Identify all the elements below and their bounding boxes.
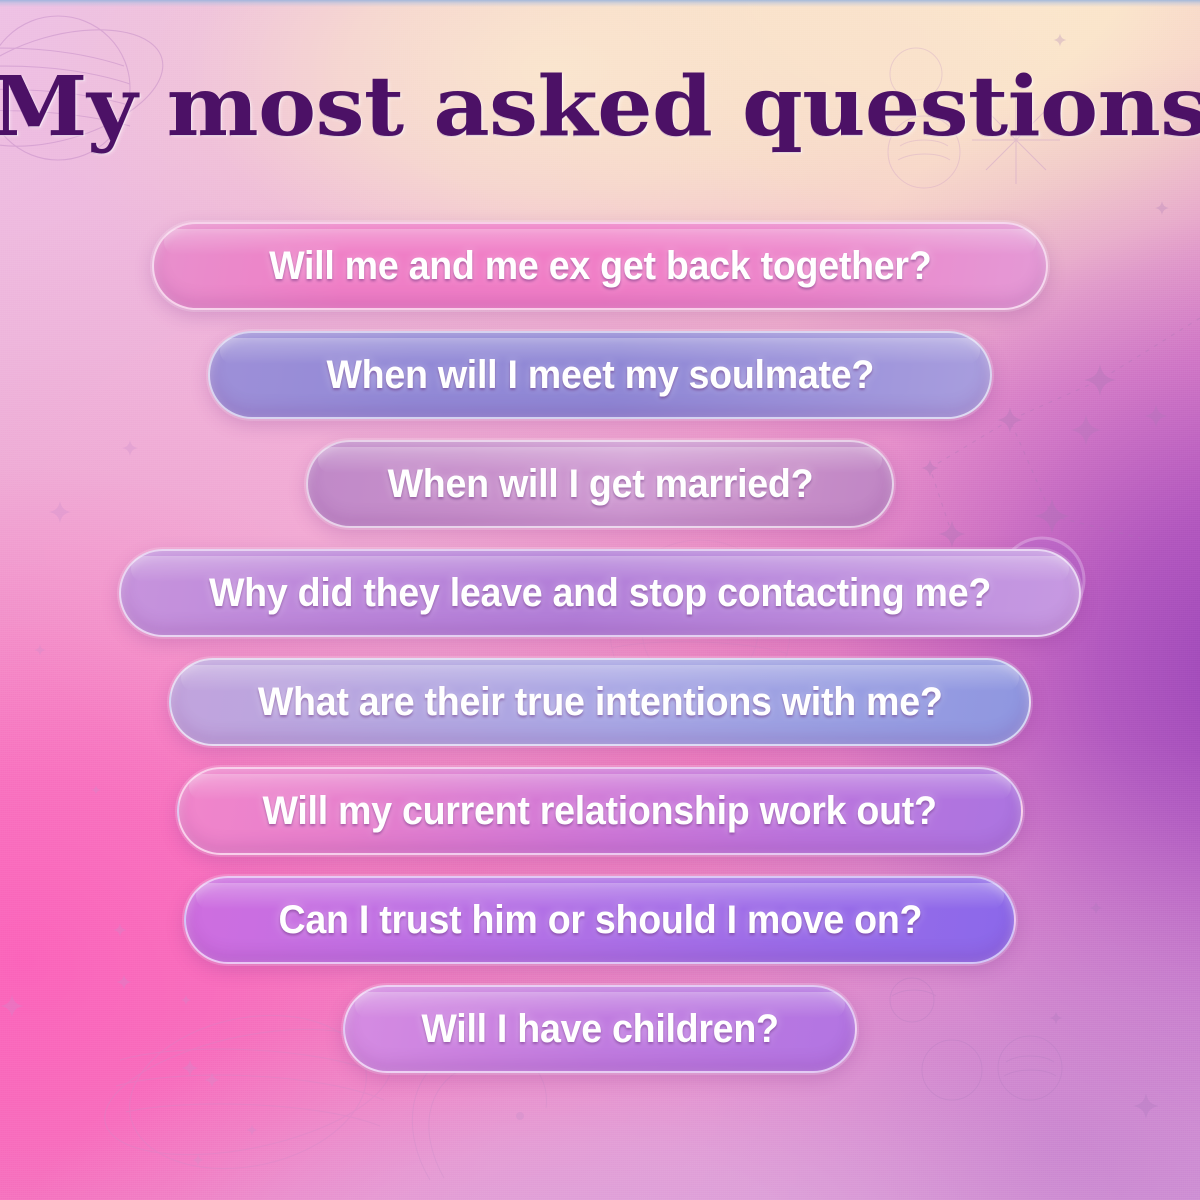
question-pill-2[interactable]: When will I meet my soulmate? xyxy=(208,331,992,419)
question-label: When will I get married? xyxy=(387,464,813,504)
questions-list: Will me and me ex get back together? Whe… xyxy=(0,222,1200,1073)
question-pill-5[interactable]: What are their true intentions with me? xyxy=(169,658,1031,746)
question-pill-3[interactable]: When will I get married? xyxy=(306,440,894,528)
question-label: Will me and me ex get back together? xyxy=(269,246,931,286)
sparkle-icon xyxy=(192,1073,219,1166)
question-pill-6[interactable]: Will my current relationship work out? xyxy=(177,767,1023,855)
question-label: Will I have children? xyxy=(421,1009,778,1049)
question-label: Can I trust him or should I move on? xyxy=(278,900,922,940)
poster-canvas: My most asked questions Will me and me e… xyxy=(0,0,1200,1200)
question-label: What are their true intentions with me? xyxy=(258,682,943,722)
question-label: Why did they leave and stop contacting m… xyxy=(209,573,991,613)
page-title: My most asked questions xyxy=(0,66,1200,148)
question-pill-7[interactable]: Can I trust him or should I move on? xyxy=(184,876,1016,964)
question-label: Will my current relationship work out? xyxy=(263,791,937,831)
question-label: When will I meet my soulmate? xyxy=(326,355,874,395)
question-pill-4[interactable]: Why did they leave and stop contacting m… xyxy=(119,549,1081,637)
question-pill-1[interactable]: Will me and me ex get back together? xyxy=(152,222,1048,310)
question-pill-8[interactable]: Will I have children? xyxy=(343,985,857,1073)
